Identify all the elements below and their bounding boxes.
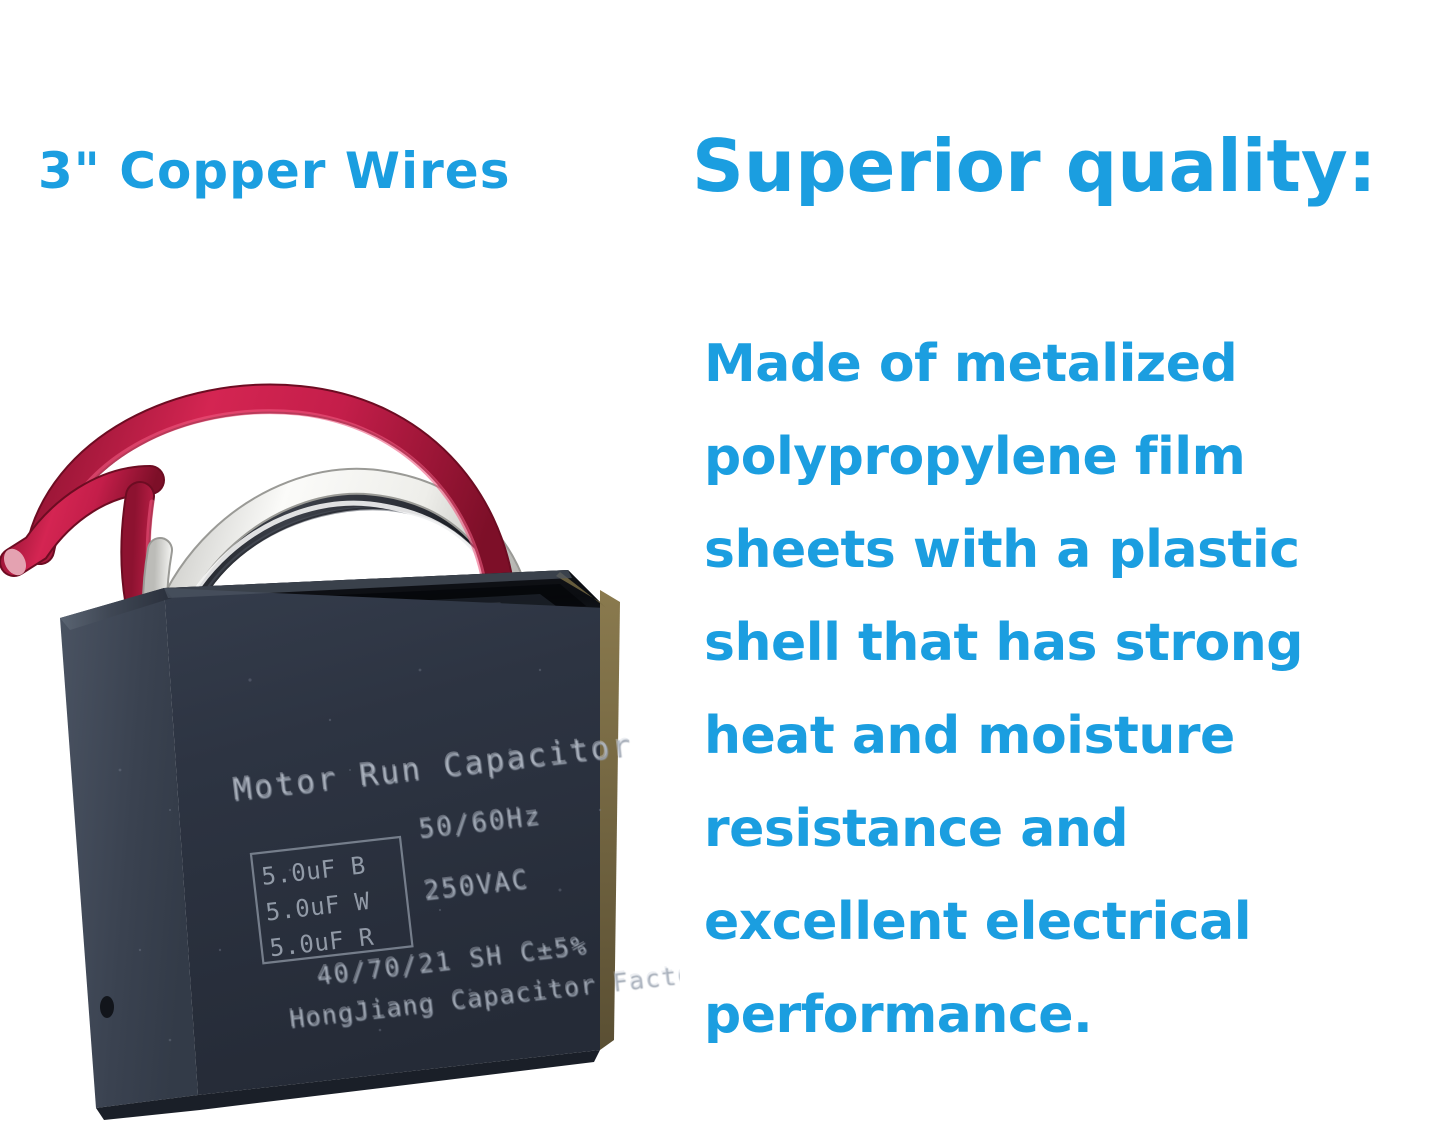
superior-quality-heading: Superior quality: (692, 130, 1377, 202)
product-photo-capacitor: Motor Run Capacitor Motor Run Capacitor … (0, 250, 680, 1120)
body-line: performance. (704, 969, 1444, 1062)
quality-description-body: Made of metalized polypropylene film she… (704, 318, 1444, 1062)
capacitor-body: Motor Run Capacitor Motor Run Capacitor … (60, 570, 680, 1120)
body-line: resistance and (704, 783, 1444, 876)
left-column: 3" Copper Wires (0, 0, 680, 1132)
body-line: heat and moisture (704, 690, 1444, 783)
body-line: polypropylene film (704, 411, 1444, 504)
copper-wires-title: 3" Copper Wires (38, 142, 510, 200)
body-line: excellent electrical (704, 876, 1444, 969)
body-line: sheets with a plastic (704, 504, 1444, 597)
body-line: Made of metalized (704, 318, 1444, 411)
right-column: Superior quality: Made of metalized poly… (690, 0, 1445, 1132)
body-line: shell that has strong (704, 597, 1444, 690)
